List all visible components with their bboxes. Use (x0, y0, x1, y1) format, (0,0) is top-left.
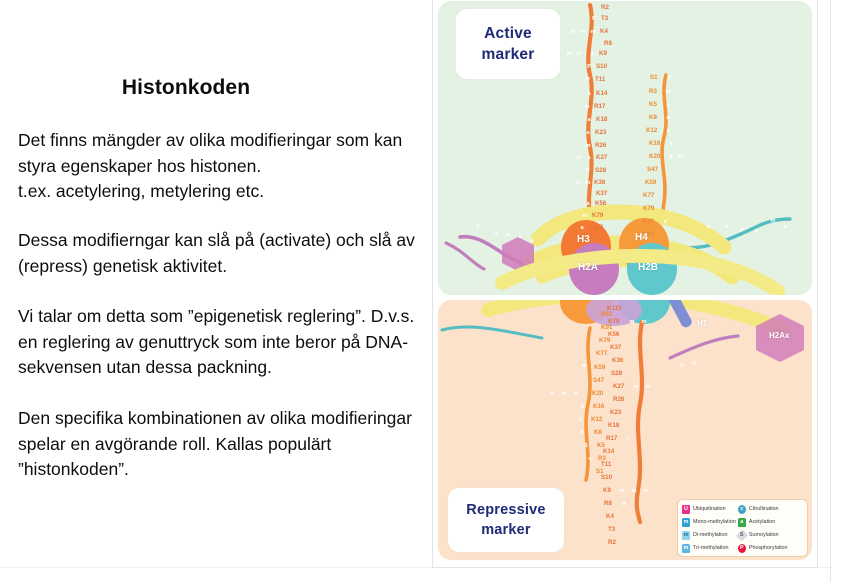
tri-methylation-icon: m (682, 544, 690, 553)
phosphorylation-icon: P (590, 15, 598, 24)
legend-column-left: UUbiquitinationmMono-methylationmDi-meth… (682, 504, 736, 555)
page-title: Histonkoden (0, 76, 372, 100)
residue-h3-K115: K115 (589, 225, 603, 231)
residue-h3-K79: K79 (592, 213, 603, 219)
residue-h4-S47: S47 (647, 167, 658, 173)
slide-text-column: Histonkoden Det finns mängder av olika m… (0, 0, 432, 582)
slide-canvas: Histonkoden Det finns mängder av olika m… (0, 0, 848, 582)
acetylation-icon: a (588, 50, 596, 59)
ubiquitination-icon: U (690, 360, 698, 369)
legend-item: mTri-methylation (682, 543, 736, 555)
acetylation-icon: a (667, 140, 675, 149)
active-marker-line1: Active (484, 23, 532, 44)
legend-item: mMono-methylation (682, 517, 736, 529)
tri-methylation-icon: m (644, 383, 652, 392)
residue-h3-K23: K23 (595, 130, 606, 136)
active-marker-line2: marker (482, 44, 535, 65)
residue-h4-K5: K5 (649, 102, 657, 108)
legend-item: cCitrullination (738, 504, 788, 516)
repressive-marker-line1: Repressive (466, 500, 545, 520)
legend-item-label: Mono-methylation (693, 519, 736, 526)
residue-h3-K4: K4 (606, 514, 614, 520)
acetylation-icon: a (578, 224, 586, 233)
di-methylation-icon: m (628, 318, 636, 327)
di-methylation-icon: m (548, 390, 556, 399)
residue-h3-R8: R8 (604, 41, 612, 47)
phosphorylation-icon: P (678, 362, 686, 371)
right-divider (830, 0, 831, 582)
acetylation-icon: a (585, 90, 593, 99)
acetylation-icon: a (585, 154, 593, 163)
repressive-marker-panel: R92 K91 K79 K77 m K59 S47 m m m K20 S K1… (438, 300, 812, 560)
acetylation-icon: a (584, 200, 592, 209)
sumoylation-icon: S (576, 416, 584, 425)
modification-legend: UUbiquitinationmMono-methylationmDi-meth… (677, 499, 808, 557)
residue-h3-K27: K27 (613, 384, 624, 390)
acetylation-icon: a (667, 153, 675, 162)
residue-h4-K8: K8 (649, 115, 657, 121)
residue-h4-K12: K12 (591, 417, 602, 423)
active-marker-panel: R2 P T3 m m m K4 R8 m m a K9 P S10 P T11… (438, 1, 812, 295)
phosphorylation-icon: P (738, 544, 746, 553)
tri-methylation-icon: m (574, 179, 582, 188)
residue-h3-K9: K9 (603, 488, 611, 494)
mono-methylation-icon: m (618, 487, 626, 496)
acetylation-icon: a (661, 218, 669, 227)
mono-methylation-icon: m (584, 142, 592, 151)
residue-h4-K77: K77 (596, 351, 607, 357)
di-methylation-icon: m (569, 28, 577, 37)
legend-item-label: Phosphorylation (749, 545, 788, 552)
tri-methylation-icon: m (640, 318, 648, 327)
residue-h4-K59: K59 (594, 365, 605, 371)
phosphorylation-icon: P (584, 167, 592, 176)
core-label-H1: H1 (697, 320, 707, 328)
repressive-marker-line2: marker (481, 520, 531, 540)
acetylation-icon: a (752, 227, 760, 236)
residue-h4-K12: K12 (646, 128, 657, 134)
core-label-H2B: H2B (638, 263, 658, 273)
sumoylation-icon: S (578, 429, 586, 438)
residue-h3-K14: K14 (596, 91, 607, 97)
residue-h4-K59: K59 (645, 180, 656, 186)
residue-h3-K36: K36 (612, 358, 623, 364)
active-marker-label: Active marker (456, 9, 560, 79)
di-methylation-icon: m (664, 88, 672, 97)
acetylation-icon: a (528, 237, 536, 246)
residue-h3-K56: K56 (595, 201, 606, 207)
residue-h4-S1: S1 (650, 75, 658, 81)
mono-methylation-icon: m (620, 500, 628, 509)
residue-h3-K115: K115 (607, 306, 621, 312)
phosphorylation-icon: P (665, 74, 673, 83)
acetylation-icon: a (664, 114, 672, 123)
residue-h3-R26: R26 (595, 143, 606, 149)
residue-h3-T11: T11 (601, 462, 611, 468)
acetylation-icon: a (585, 116, 593, 125)
residue-h4-K77: K77 (643, 193, 654, 199)
residue-h3-R2: R2 (608, 540, 616, 546)
acetylation-icon: a (516, 233, 524, 242)
tri-methylation-icon: m (565, 50, 573, 59)
residue-h4-K8: K8 (594, 430, 602, 436)
di-methylation-icon: m (630, 487, 638, 496)
residue-h3-R2: R2 (601, 5, 609, 11)
di-methylation-icon: m (682, 531, 690, 540)
paragraph-2: Dessa modifierngar kan slå på (activate)… (18, 228, 430, 279)
residue-h3-K4: K4 (600, 29, 608, 35)
acetylation-icon: a (664, 127, 672, 136)
residue-h3-T3: T3 (601, 16, 608, 22)
core-label-H2Ax: H2Ax (769, 332, 789, 340)
di-methylation-icon: m (584, 179, 592, 188)
legend-item-label: Citrullination (749, 506, 779, 513)
nucleosome-figure: R2 P T3 m m m K4 R8 m m a K9 P S10 P T11… (432, 0, 818, 568)
acetylation-icon: a (738, 518, 746, 527)
residue-h3-T11: T11 (595, 77, 605, 83)
legend-item-label: Ubiquitination (693, 506, 726, 513)
residue-h3-K27: K27 (596, 155, 607, 161)
residue-h4-R3: R3 (649, 89, 657, 95)
acetylation-icon: a (664, 101, 672, 110)
citrullination-icon: c (586, 455, 594, 464)
residue-h4-S47: S47 (593, 378, 604, 384)
di-methylation-icon: m (580, 362, 588, 371)
mono-methylation-icon: m (682, 518, 690, 527)
residue-h3-K23: K23 (610, 410, 621, 416)
residue-h3-K37: K37 (610, 345, 621, 351)
di-methylation-icon: m (560, 390, 568, 399)
residue-h3-K14: K14 (603, 449, 614, 455)
acetylation-icon: a (704, 223, 712, 232)
legend-item-label: Tri-methylation (693, 545, 728, 552)
residue-h3-K18: K18 (608, 423, 619, 429)
residue-h4-K91: K91 (643, 219, 654, 225)
legend-item: PPhosphorylation (738, 543, 788, 555)
paragraph-1: Det finns mängder av olika modifieringar… (18, 128, 430, 205)
residue-h3-S10: S10 (601, 475, 612, 481)
mono-methylation-icon: m (589, 28, 597, 37)
ubiquitination-icon: U (682, 505, 690, 514)
residue-h3-R17: R17 (606, 436, 617, 442)
phosphorylation-icon: P (585, 63, 593, 72)
legend-item: UUbiquitination (682, 504, 736, 516)
citrullination-icon: c (738, 505, 746, 514)
paragraph-4: Den specifika kombinationen av olika mod… (18, 406, 430, 483)
residue-h3-S10: S10 (596, 64, 607, 70)
acetylation-icon: a (781, 223, 789, 232)
sumoylation-icon: S (736, 530, 748, 542)
legend-item-label: Di-methylation (693, 532, 727, 539)
repressive-marker-label: Repressive marker (448, 488, 564, 552)
residue-h3-K9: K9 (599, 51, 607, 57)
legend-item-label: Acetylation (749, 519, 775, 526)
residue-h3-S28: S28 (611, 371, 622, 377)
residue-h3-T3: T3 (608, 527, 615, 533)
acetylation-icon: a (584, 129, 592, 138)
residue-h3-K36: K36 (594, 180, 605, 186)
mono-methylation-icon: m (572, 390, 580, 399)
core-label-H2A: H2A (578, 263, 598, 273)
acetylation-icon: a (504, 231, 512, 240)
mono-methylation-icon: m (769, 217, 777, 226)
legend-item: SSumoylation (738, 530, 788, 542)
residue-h3-R8: R8 (604, 501, 612, 507)
residue-h3-R17: R17 (594, 104, 605, 110)
core-label-H3: H3 (577, 235, 590, 245)
legend-column-right: cCitrullinationaAcetylationSSumoylationP… (738, 504, 788, 555)
residue-h4-K79: K79 (643, 206, 654, 212)
mono-methylation-icon: m (581, 212, 589, 221)
acetylation-icon: a (723, 223, 731, 232)
residue-h3-S28: S28 (595, 168, 606, 174)
residue-h4-K16: K16 (649, 141, 660, 147)
mono-methylation-icon: m (583, 103, 591, 112)
sumoylation-icon: S (582, 442, 590, 451)
citrullination-icon: c (624, 435, 632, 444)
legend-item-label: Sumoylation (749, 532, 779, 539)
legend-item: aAcetylation (738, 517, 788, 529)
legend-item: mDi-methylation (682, 530, 736, 542)
di-methylation-icon: m (632, 383, 640, 392)
phosphorylation-icon: P (738, 227, 746, 236)
residue-h3-K79: K79 (608, 319, 619, 325)
residue-h3-K37: K37 (596, 191, 607, 197)
core-label-H4: H4 (635, 233, 648, 243)
residue-h4-K16: K16 (593, 404, 604, 410)
di-methylation-icon: m (575, 50, 583, 59)
residue-h4-K20: K20 (649, 154, 660, 160)
residue-h3-K18: K18 (596, 117, 607, 123)
residue-h4-K20: K20 (592, 391, 603, 397)
di-methylation-icon: m (579, 28, 587, 37)
tri-methylation-icon: m (642, 487, 650, 496)
mono-methylation-icon: m (575, 154, 583, 163)
acetylation-icon: a (492, 229, 500, 238)
residue-h3-R26: R26 (613, 397, 624, 403)
phosphorylation-icon: P (584, 76, 592, 85)
residue-h3-K56: K56 (608, 332, 619, 338)
paragraph-3: Vi talar om detta som ”epigenetisk regle… (18, 304, 430, 381)
residue-h4-K79: K79 (599, 338, 610, 344)
sumoylation-icon: S (578, 403, 586, 412)
phosphorylation-icon: P (474, 223, 482, 232)
mono-methylation-icon: m (677, 153, 685, 162)
